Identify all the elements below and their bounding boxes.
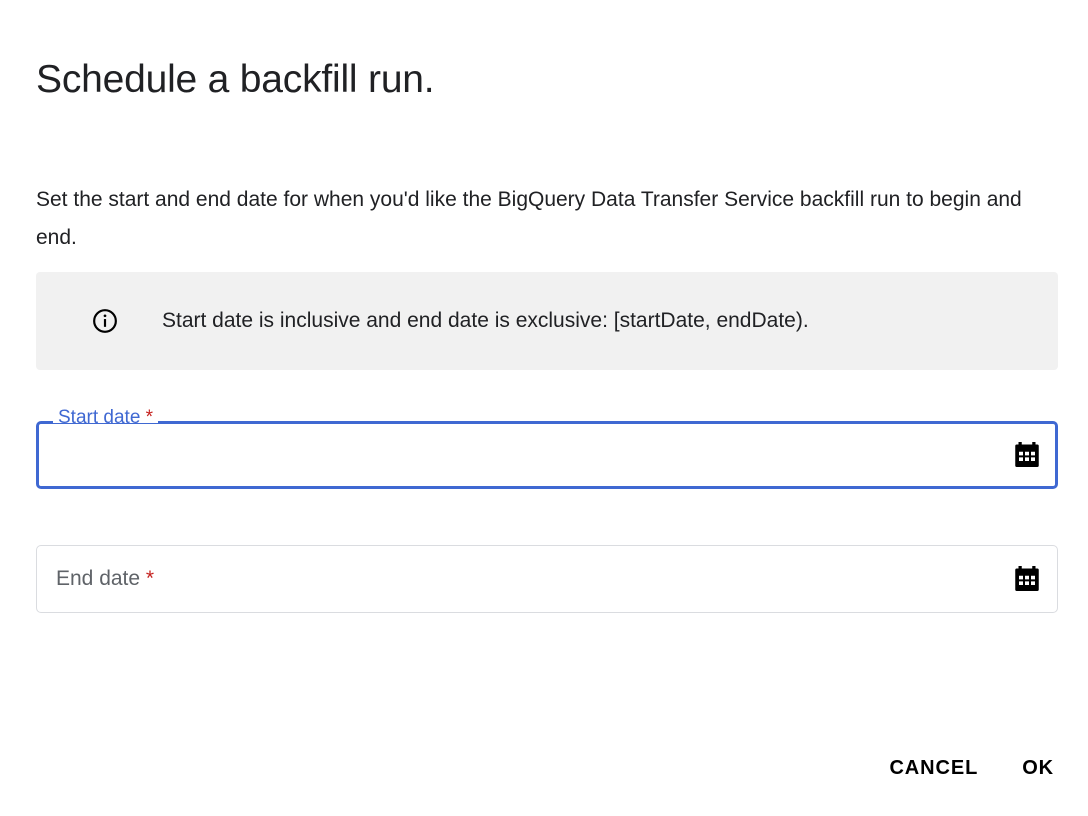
end-date-label: End date *	[56, 567, 154, 591]
start-date-label-text: Start date	[58, 407, 140, 428]
page-title: Schedule a backfill run.	[36, 56, 434, 104]
cancel-button[interactable]: CANCEL	[873, 748, 994, 789]
info-banner: Start date is inclusive and end date is …	[36, 272, 1058, 370]
start-date-calendar-icon[interactable]	[1012, 440, 1042, 470]
end-date-calendar-icon[interactable]	[1012, 564, 1042, 594]
start-date-input[interactable]	[56, 421, 996, 489]
dialog-actions: CANCEL OK	[873, 748, 1070, 789]
ok-button[interactable]: OK	[1006, 748, 1070, 789]
info-circle-icon	[92, 308, 118, 334]
end-date-required-asterisk: *	[146, 567, 154, 590]
end-date-label-text: End date	[56, 567, 140, 590]
start-date-field[interactable]: Start date *	[36, 421, 1058, 489]
dialog-description: Set the start and end date for when you'…	[36, 181, 1054, 257]
info-banner-text: Start date is inclusive and end date is …	[162, 307, 809, 335]
end-date-field[interactable]: End date *	[36, 545, 1058, 613]
schedule-backfill-dialog: Schedule a backfill run. Set the start a…	[0, 0, 1088, 816]
start-date-required-asterisk: *	[146, 407, 153, 428]
end-date-input[interactable]	[56, 545, 996, 613]
start-date-label: Start date *	[58, 407, 153, 429]
